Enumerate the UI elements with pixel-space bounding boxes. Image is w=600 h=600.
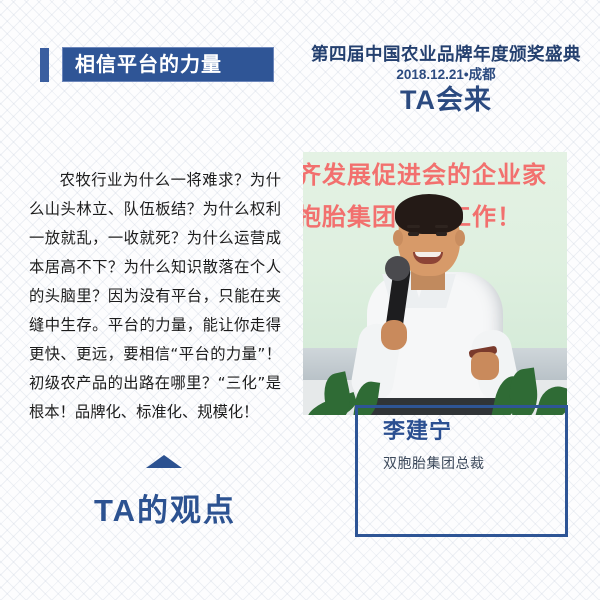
viewpoint-heading: TA的观点 <box>0 495 330 526</box>
poster-canvas: 相信平台的力量 第四届中国农业品牌年度颁奖盛典 2018.12.21•成都 TA… <box>0 0 600 600</box>
speaker-teeth <box>415 252 441 257</box>
section-title-label: 相信平台的力量 <box>63 55 222 75</box>
event-date-location: 2018.12.21•成都 <box>298 67 594 83</box>
speaker-hand-right <box>471 352 499 380</box>
event-title: 第四届中国农业品牌年度颁奖盛典 <box>298 44 594 65</box>
speaker-eye-left <box>408 232 419 236</box>
triangle-up-icon <box>146 455 182 468</box>
speaker-hand-left <box>381 320 407 350</box>
speaker-eye-right <box>436 232 447 236</box>
speaker-brow-right <box>435 225 448 228</box>
speaker-name: 李建宁 <box>383 420 452 442</box>
article-paragraph: 农牧行业为什么一将难求？为什么山头林立、队伍板结？为什么权利一放就乱，一收就死？… <box>29 166 281 427</box>
event-slogan: TA会来 <box>298 86 594 116</box>
event-header: 第四届中国农业品牌年度颁奖盛典 2018.12.21•成都 TA会来 <box>298 44 594 116</box>
section-title-box: 相信平台的力量 <box>62 47 274 82</box>
photo-banner-line1: 齐发展促进会的企业家 <box>303 164 547 188</box>
speaker-ear-left <box>393 230 403 246</box>
speaker-role: 双胞胎集团总裁 <box>383 456 485 470</box>
speaker-brow-left <box>407 225 420 228</box>
speaker-hair <box>395 194 463 234</box>
microphone-head-icon <box>385 256 410 281</box>
header-accent-bar <box>40 48 49 82</box>
speaker-photo: 齐发展促进会的企业家 抱胎集团指导工作！ <box>303 152 567 415</box>
speaker-ear-right <box>455 230 465 246</box>
